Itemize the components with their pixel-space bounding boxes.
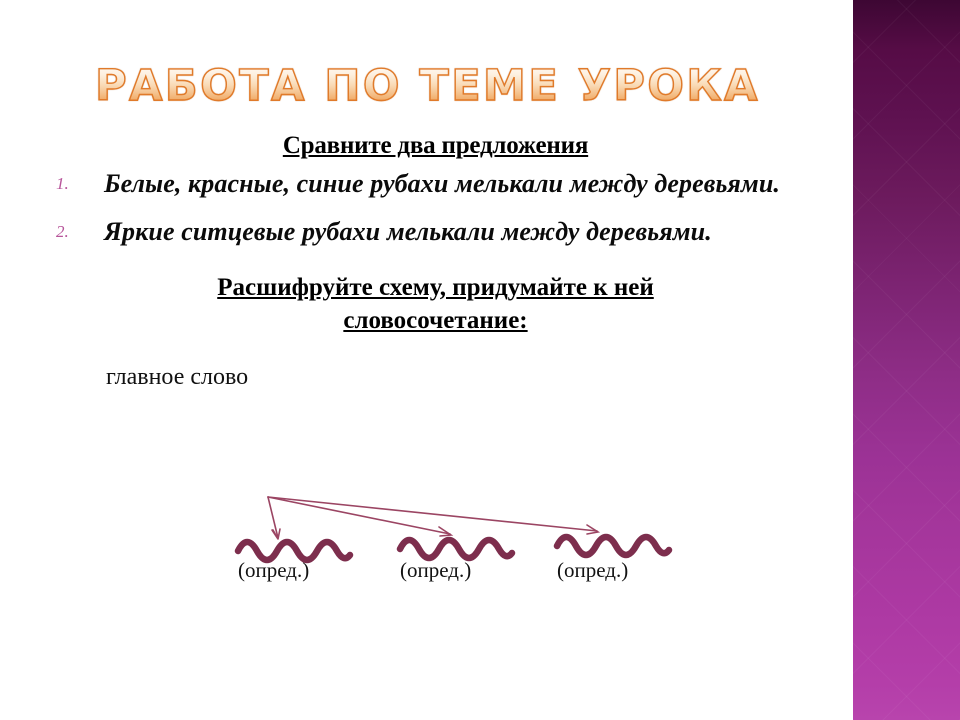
list-item-number: 2. — [56, 222, 69, 242]
list-item: 1. Белые, красные, синие рубахи мелькали… — [48, 166, 823, 202]
scheme-main-word-label: главное слово — [106, 364, 823, 390]
arrow-to-wave-2 — [268, 497, 450, 534]
scheme-arrow-heads — [272, 525, 598, 539]
wave-line-2 — [400, 540, 512, 558]
slide-body: Сравните два предложения 1. Белые, красн… — [48, 132, 823, 390]
scheme-arrows — [268, 497, 597, 538]
sentence-list: 1. Белые, красные, синие рубахи мелькали… — [48, 166, 823, 251]
slide: Работа по теме урока Сравните два предло… — [0, 0, 960, 720]
list-item-text: Яркие ситцевые рубахи мелькали между дер… — [104, 214, 823, 250]
arrow-to-wave-3 — [268, 497, 597, 531]
wave-line-3 — [557, 537, 669, 555]
scheme-wave-labels: (опред.) (опред.) (опред.) — [160, 558, 740, 592]
heading-compare-sentences: Сравните два предложения — [48, 132, 823, 160]
wave-label-1: (опред.) — [238, 558, 309, 583]
list-item: 2. Яркие ситцевые рубахи мелькали между … — [48, 214, 823, 250]
heading-decode-scheme-line-1: Расшифруйте схему, придумайте к ней — [217, 274, 654, 301]
decorative-side-band — [853, 0, 960, 720]
heading-decode-scheme: Расшифруйте схему, придумайте к ней слов… — [48, 271, 823, 338]
list-item-number: 1. — [56, 174, 69, 194]
list-item-text: Белые, красные, синие рубахи мелькали ме… — [104, 166, 823, 202]
heading-compare-sentences-text: Сравните два предложения — [283, 132, 588, 159]
wave-label-2: (опред.) — [400, 558, 471, 583]
scheme-waves — [238, 537, 669, 560]
slide-title-container: Работа по теме урока — [40, 55, 815, 117]
heading-decode-scheme-line-2: словосочетание: — [343, 307, 527, 334]
side-band-edge — [851, 0, 853, 720]
slide-title: Работа по теме урока — [95, 65, 760, 108]
wave-label-3: (опред.) — [557, 558, 628, 583]
